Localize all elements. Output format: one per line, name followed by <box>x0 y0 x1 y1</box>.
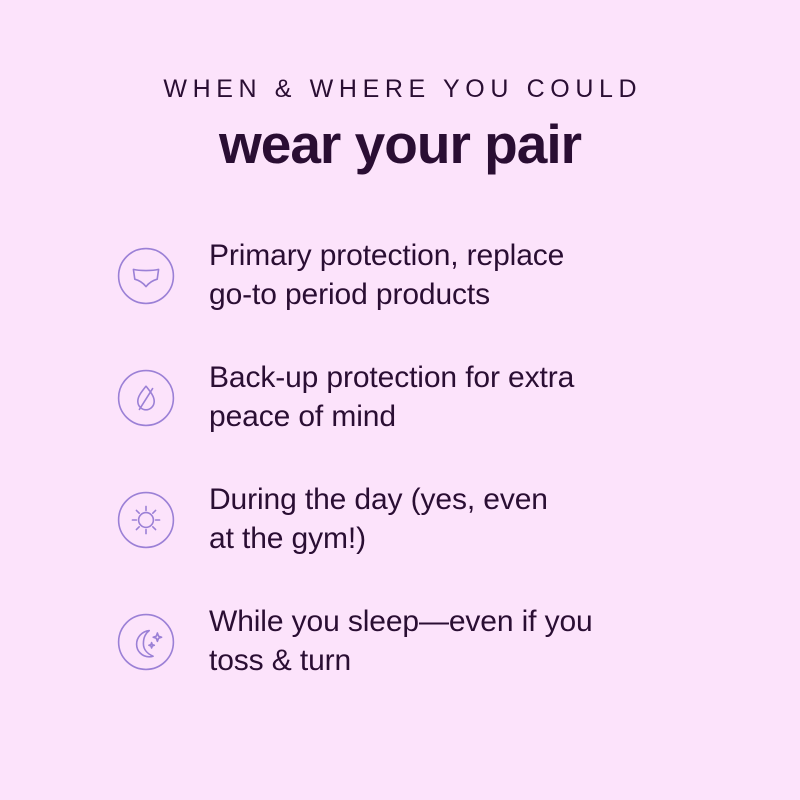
sun-icon <box>117 491 175 549</box>
no-drop-icon <box>117 369 175 427</box>
page-title: wear your pair <box>0 115 800 174</box>
underwear-briefs-icon <box>117 247 175 305</box>
eyebrow-text: WHEN & WHERE YOU COULD <box>0 76 800 104</box>
moon-stars-icon <box>117 613 175 671</box>
list-item-label: Back-up protection for extra peace of mi… <box>209 358 574 436</box>
poster-canvas: WHEN & WHERE YOU COULD wear your pair Pr… <box>0 0 800 800</box>
list-item: Back-up protection for extra peace of mi… <box>0 358 800 436</box>
list-item-label: While you sleep—even if you toss & turn <box>209 602 593 680</box>
list-item-label: Primary protection, replace go-to period… <box>209 236 564 314</box>
benefits-list: Primary protection, replace go-to period… <box>0 236 800 680</box>
poster-header: WHEN & WHERE YOU COULD wear your pair <box>0 0 800 174</box>
list-item: While you sleep—even if you toss & turn <box>0 602 800 680</box>
list-item: During the day (yes, even at the gym!) <box>0 480 800 558</box>
list-item: Primary protection, replace go-to period… <box>0 236 800 314</box>
list-item-label: During the day (yes, even at the gym!) <box>209 480 548 558</box>
